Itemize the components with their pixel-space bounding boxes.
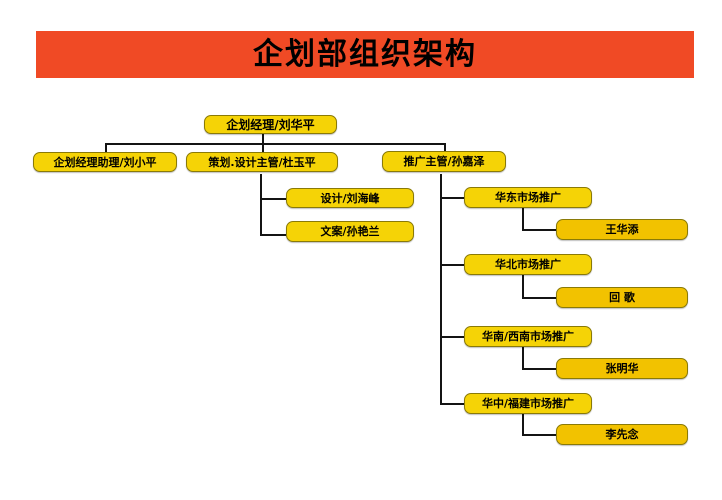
node-region-central-staff-label: 李先念 [606,429,639,440]
connector-to-region-central [440,403,464,405]
connector-to-region-south [440,336,464,338]
node-region-central-label: 华中/福建市场推广 [482,398,574,409]
node-region-north-staff-label: 回 歌 [609,292,635,303]
node-assistant[interactable]: 企划经理助理/刘小平 [33,152,177,172]
node-region-central[interactable]: 华中/福建市场推广 [464,393,592,414]
node-design-supervisor-label: 策划.设计主管/杜玉平 [208,157,315,168]
connector-central-staff-drop [522,414,524,436]
connector-east-staff-arm [522,229,556,231]
connector-to-copywriter [260,234,286,236]
node-region-east-staff[interactable]: 王华添 [556,219,688,240]
node-designer[interactable]: 设计/刘海峰 [286,188,414,208]
node-promo-supervisor-label: 推广主管/孙嘉泽 [403,156,484,167]
org-chart-page: 企划部组织架构 企划经理/刘华平 企划经理助理/刘小平 策划.设计主管/杜玉平 … [0,0,722,500]
node-region-north-label: 华北市场推广 [495,259,561,270]
connector-south-staff-arm [522,368,556,370]
node-region-south-staff-label: 张明华 [606,363,639,374]
node-region-east[interactable]: 华东市场推广 [464,187,592,208]
connector-to-region-north [440,264,464,266]
node-root-label: 企划经理/刘华平 [226,119,314,131]
connector-level1-bus [105,143,445,145]
connector-east-staff-drop [522,208,524,230]
connector-central-staff-arm [522,434,556,436]
node-root[interactable]: 企划经理/刘华平 [204,115,337,134]
connector-south-staff-drop [522,347,524,369]
connector-promo-trunk [440,174,442,404]
connector-to-designer [260,198,286,200]
node-region-south-staff[interactable]: 张明华 [556,358,688,379]
connector-design-trunk [260,174,262,236]
node-region-north-staff[interactable]: 回 歌 [556,287,688,308]
node-assistant-label: 企划经理助理/刘小平 [53,157,156,168]
page-title: 企划部组织架构 [253,40,477,70]
node-designer-label: 设计/刘海峰 [320,193,379,204]
node-region-central-staff[interactable]: 李先念 [556,424,688,445]
node-copywriter-label: 文案/孙艳兰 [320,226,379,237]
connector-to-region-east [440,197,464,199]
node-promo-supervisor[interactable]: 推广主管/孙嘉泽 [382,151,506,172]
connector-north-staff-arm [522,297,556,299]
node-region-east-staff-label: 王华添 [606,224,639,235]
node-region-south-label: 华南/西南市场推广 [482,331,574,342]
node-copywriter[interactable]: 文案/孙艳兰 [286,221,414,242]
node-region-north[interactable]: 华北市场推广 [464,254,592,275]
title-banner: 企划部组织架构 [36,31,694,78]
node-region-south[interactable]: 华南/西南市场推广 [464,326,592,347]
node-region-east-label: 华东市场推广 [495,192,561,203]
connector-north-staff-drop [522,275,524,298]
node-design-supervisor[interactable]: 策划.设计主管/杜玉平 [186,152,338,172]
